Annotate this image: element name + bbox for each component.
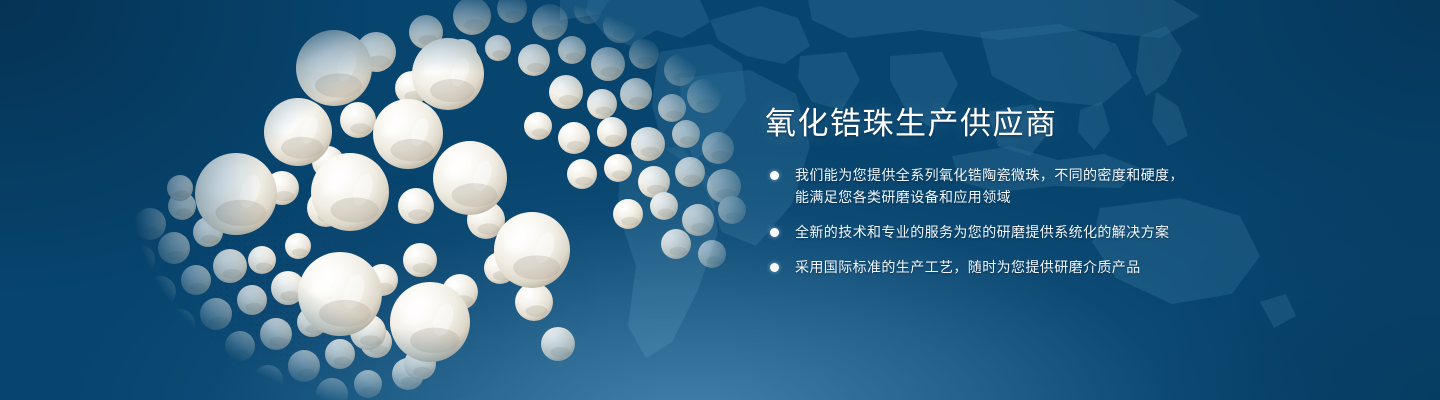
bullet-dot-icon [770, 171, 779, 180]
bullet-dot-icon [770, 263, 779, 272]
bullet-text-line2: 能满足您各类研磨设备和应用领域 [795, 189, 1011, 205]
banner-copy: 氧化锆珠生产供应商 我们能为您提供全系列氧化锆陶瓷微珠，不同的密度和硬度， 能满… [765, 104, 1285, 278]
bullet-item: 全新的技术和专业的服务为您的研磨提供系统化的解决方案 [765, 221, 1285, 243]
zirconia-beads-image [120, 0, 760, 400]
hero-banner: 氧化锆珠生产供应商 我们能为您提供全系列氧化锆陶瓷微珠，不同的密度和硬度， 能满… [0, 0, 1440, 400]
bullet-dot-icon [770, 228, 779, 237]
banner-bullet-list: 我们能为您提供全系列氧化锆陶瓷微珠，不同的密度和硬度， 能满足您各类研磨设备和应… [765, 164, 1285, 278]
bullet-item: 采用国际标准的生产工艺，随时为您提供研磨介质产品 [765, 256, 1285, 278]
bullet-text-line1: 我们能为您提供全系列氧化锆陶瓷微珠，不同的密度和硬度， [795, 164, 1285, 186]
bullet-text-line1: 采用国际标准的生产工艺，随时为您提供研磨介质产品 [795, 256, 1285, 278]
banner-title: 氧化锆珠生产供应商 [765, 104, 1285, 144]
bullet-text-line1: 全新的技术和专业的服务为您的研磨提供系统化的解决方案 [795, 221, 1285, 243]
bullet-item: 我们能为您提供全系列氧化锆陶瓷微珠，不同的密度和硬度， 能满足您各类研磨设备和应… [765, 164, 1285, 208]
